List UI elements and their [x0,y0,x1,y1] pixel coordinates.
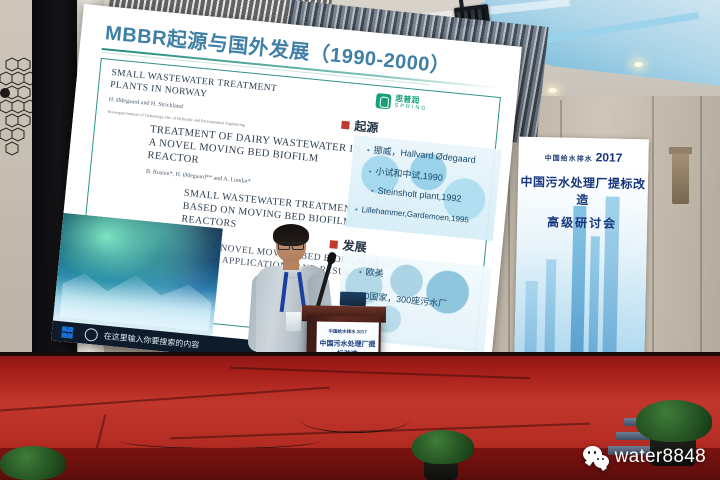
photo-scene: MBBR起源与国外发展（1990-2000） SMALL WASTEWATER … [0,0,720,480]
banner-tower [544,259,556,355]
wechat-icon [583,446,609,468]
podium-sign-brand: 中国给水排水 2017 [317,328,379,335]
spring-logo-mark-icon [375,93,391,109]
section-origin: 起源 [341,116,379,137]
cortana-circle-icon[interactable] [84,327,98,341]
taskbar-search-input[interactable]: 在这里输入你要搜索的内容 [103,330,200,350]
downlight [548,88,557,93]
downlight [634,62,643,67]
wechat-bubble-small [594,455,609,468]
bullet-square-icon [341,120,350,129]
glasses-icon [278,242,304,248]
honeycomb-art-icon [0,55,36,165]
banner-brand: 中国给水排水 [545,155,593,163]
watermark-text: water8848 [615,446,706,468]
potted-plant [636,400,712,442]
floor-cable [120,432,320,449]
potted-plant [0,446,66,480]
wall-sconce [672,152,689,204]
banner-header: 中国给水排水2017 中国污水处理厂提标改造 高级研讨会 [517,147,649,233]
watermark: water8848 [583,446,706,468]
banner-year: 2017 [596,150,623,165]
bullet-item: 欧美 [359,264,385,279]
name-badge [286,312,301,331]
potted-plant [412,430,474,464]
banner-tower [524,281,538,355]
podium-monitor [340,292,366,307]
floor-cable [300,406,410,433]
banner-title-line2: 高级研讨会 [517,213,647,233]
banner-title-line1: 中国污水处理厂提标改造 [517,173,648,210]
windows-start-icon[interactable] [61,326,73,338]
